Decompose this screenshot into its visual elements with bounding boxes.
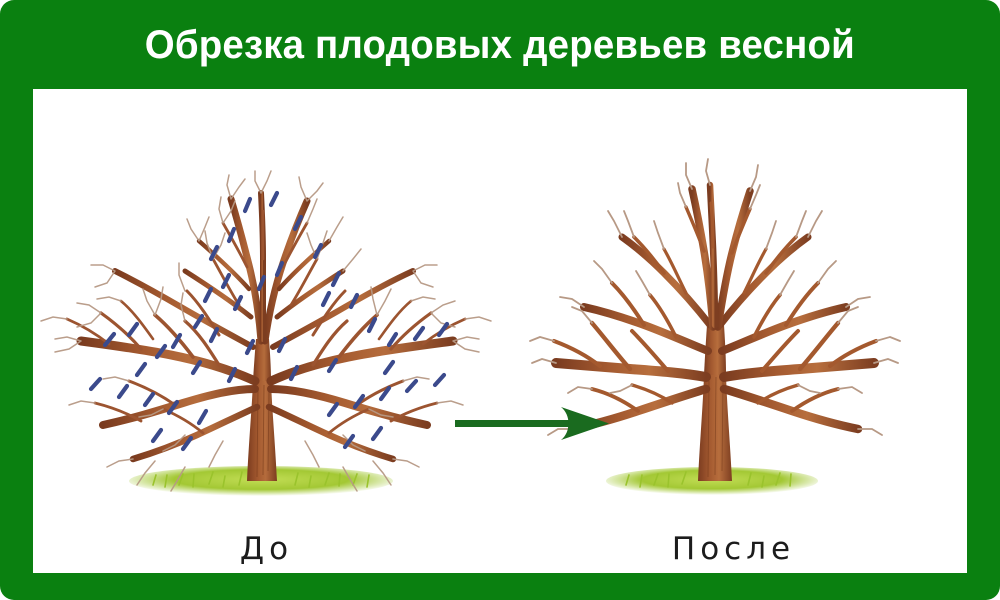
after-tree-graphic bbox=[500, 89, 967, 573]
before-tree-graphic bbox=[33, 89, 500, 573]
illustration-panel: До bbox=[33, 89, 967, 573]
after-caption: После bbox=[500, 531, 967, 567]
arrow-icon bbox=[453, 399, 613, 449]
title-bar: Обрезка плодовых деревьев весной bbox=[0, 0, 1000, 89]
before-illustration: До bbox=[33, 89, 500, 573]
poster-root: Обрезка плодовых деревьев весной bbox=[0, 0, 1000, 600]
after-illustration: После bbox=[500, 89, 967, 573]
before-caption: До bbox=[33, 531, 500, 567]
page-title: Обрезка плодовых деревьев весной bbox=[145, 25, 855, 65]
transformation-arrow bbox=[453, 399, 613, 449]
